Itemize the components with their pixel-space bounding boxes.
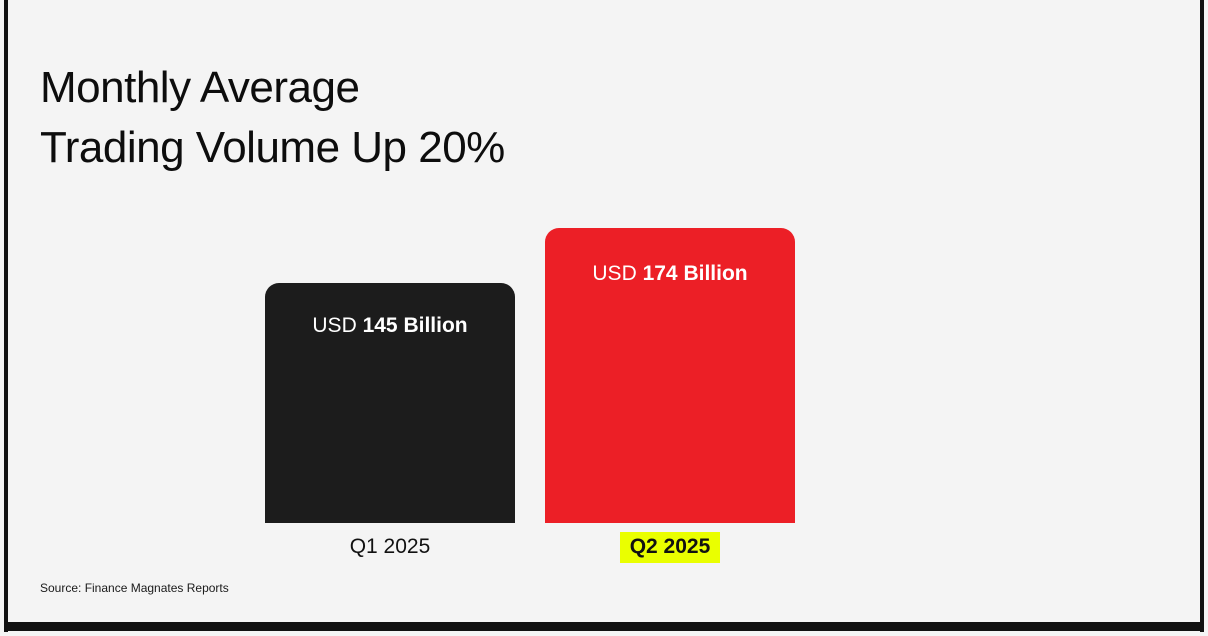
bar-q2-2025: USD 174 Billion — [545, 228, 795, 523]
bar-q1-unit-prefix: USD — [312, 314, 356, 337]
bar-q2-value-label: USD 174 Billion — [545, 261, 795, 287]
bar-q1-value-label: USD 145 Billion — [265, 313, 515, 339]
category-label-q2: Q2 2025 — [545, 533, 795, 560]
slide-canvas: Monthly Average Trading Volume Up 20% US… — [0, 0, 1208, 636]
bar-q1-value-text: 145 Billion — [363, 314, 468, 337]
category-label-q2-text: Q2 2025 — [620, 532, 721, 563]
source-note: Source: Finance Magnates Reports — [40, 580, 229, 596]
bar-q1-2025: USD 145 Billion — [265, 283, 515, 523]
bar-q2-value-text: 174 Billion — [643, 262, 748, 285]
bar-q2-unit-prefix: USD — [592, 262, 636, 285]
category-label-q1: Q1 2025 — [265, 533, 515, 560]
bar-chart: USD 145 Billion USD 174 Billion Q1 2025 … — [0, 0, 1208, 636]
category-label-q1-text: Q1 2025 — [350, 535, 431, 558]
